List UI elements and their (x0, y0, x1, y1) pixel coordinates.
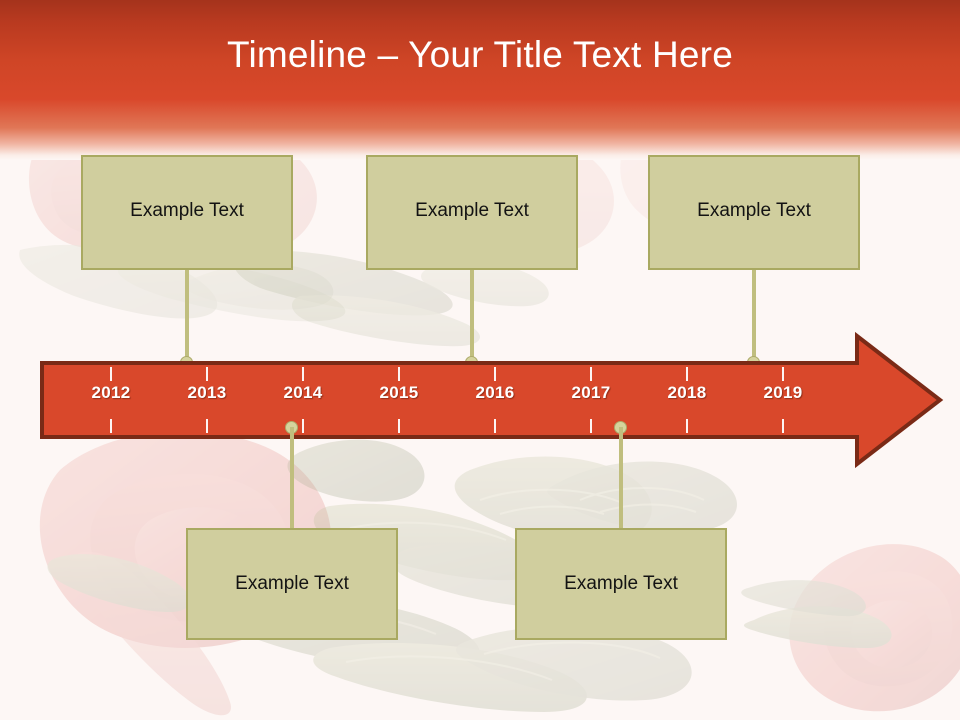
callout-text: Example Text (554, 573, 688, 596)
timeline-year-2017: 2017 (543, 383, 639, 403)
callout-box-bottom-1[interactable]: Example Text (186, 528, 398, 640)
callout-text: Example Text (405, 200, 539, 223)
callout-box-top-3[interactable]: Example Text (648, 155, 860, 270)
slide-canvas: Timeline – Your Title Text Here Example … (0, 0, 960, 720)
page-title: Timeline – Your Title Text Here (0, 34, 960, 76)
callout-box-top-1[interactable]: Example Text (81, 155, 293, 270)
timeline-year-2018: 2018 (639, 383, 735, 403)
callout-box-top-2[interactable]: Example Text (366, 155, 578, 270)
connector-line-bottom-1 (290, 427, 294, 528)
timeline-year-2014: 2014 (255, 383, 351, 403)
timeline-year-2019: 2019 (735, 383, 831, 403)
timeline-year-2016: 2016 (447, 383, 543, 403)
callout-text: Example Text (120, 200, 254, 223)
timeline-year-2015: 2015 (351, 383, 447, 403)
timeline-year-2012: 2012 (63, 383, 159, 403)
connector-line-bottom-2 (619, 427, 623, 528)
timeline-year-2013: 2013 (159, 383, 255, 403)
title-banner (0, 0, 960, 160)
callout-text: Example Text (687, 200, 821, 223)
callout-text: Example Text (225, 573, 359, 596)
callout-box-bottom-2[interactable]: Example Text (515, 528, 727, 640)
